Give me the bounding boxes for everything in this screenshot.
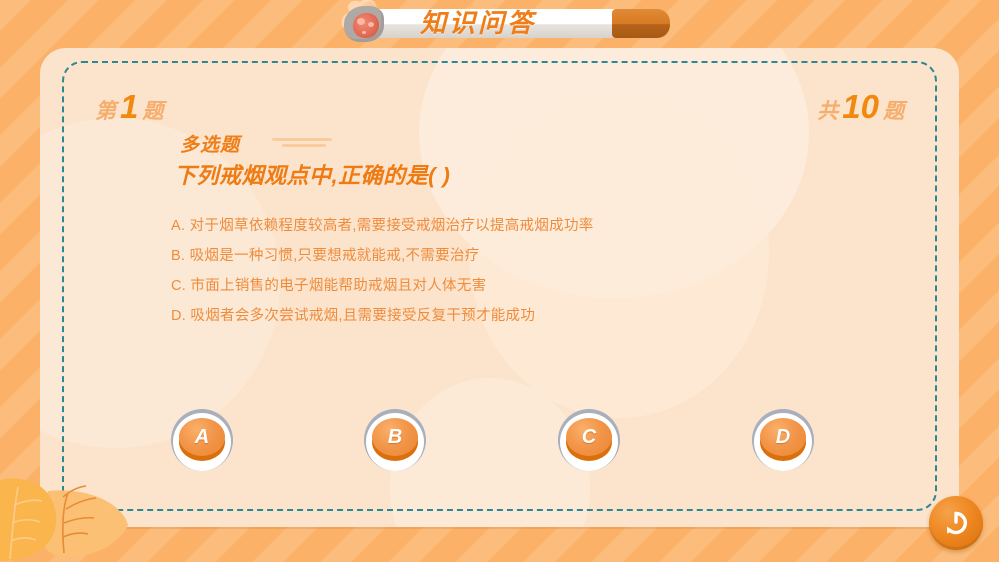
answer-button-face: C — [566, 418, 612, 456]
answer-button-face: B — [372, 418, 418, 456]
answer-button-row: A B C — [40, 409, 959, 489]
refresh-icon — [941, 508, 971, 538]
quiz-card: 第1题 共10题 多选题 下列戒烟观点中,正确的是( ) A. 对于烟草依赖程度… — [40, 48, 959, 527]
answer-button-label: D — [776, 427, 790, 447]
question-index-prefix: 第 — [95, 100, 116, 123]
question-index-number: 1 — [120, 88, 138, 125]
option-a: A. 对于烟草依赖程度较高者,需要接受戒烟治疗以提高戒烟成功率 — [171, 211, 899, 241]
question-total-prefix: 共 — [817, 100, 838, 123]
refresh-button[interactable] — [929, 496, 983, 550]
option-d: D. 吸烟者会多次尝试戒烟,且需要接受反复干预才能成功 — [171, 301, 899, 331]
answer-button-face: D — [760, 418, 806, 456]
answer-button-label: C — [582, 427, 596, 447]
cigarette-filter — [612, 9, 670, 38]
question-total-number: 10 — [842, 88, 879, 125]
answer-button-b[interactable]: B — [364, 409, 426, 471]
option-b: B. 吸烟是一种习惯,只要想戒就能戒,不需要治疗 — [171, 241, 899, 271]
cigarette-ember — [353, 13, 379, 38]
answer-button-d[interactable]: D — [752, 409, 814, 471]
question-total: 共10题 — [817, 88, 904, 126]
option-c: C. 市面上销售的电子烟能帮助戒烟且对人体无害 — [171, 271, 899, 301]
question-index-suffix: 题 — [142, 100, 163, 123]
question-text: 下列戒烟观点中,正确的是( ) — [174, 158, 450, 190]
answer-button-label: B — [388, 427, 402, 447]
header-banner: 知识问答 — [0, 0, 999, 48]
page-title: 知识问答 — [420, 6, 620, 40]
option-list: A. 对于烟草依赖程度较高者,需要接受戒烟治疗以提高戒烟成功率 B. 吸烟是一种… — [171, 211, 899, 331]
answer-button-c[interactable]: C — [558, 409, 620, 471]
answer-button-a[interactable]: A — [171, 409, 233, 471]
answer-button-face: A — [179, 418, 225, 456]
question-type-label: 多选题 — [180, 130, 240, 157]
quiz-screen: 知识问答 第1题 共10题 多选题 下列戒烟观点中,正确的是( ) A. 对于烟… — [0, 0, 999, 562]
question-type-underline — [272, 138, 332, 150]
cigarette-ash — [344, 6, 384, 42]
question-index: 第1题 — [95, 88, 163, 126]
answer-button-label: A — [195, 427, 209, 447]
cigarette-icon: 知识问答 — [340, 4, 670, 42]
question-total-suffix: 题 — [883, 100, 904, 123]
